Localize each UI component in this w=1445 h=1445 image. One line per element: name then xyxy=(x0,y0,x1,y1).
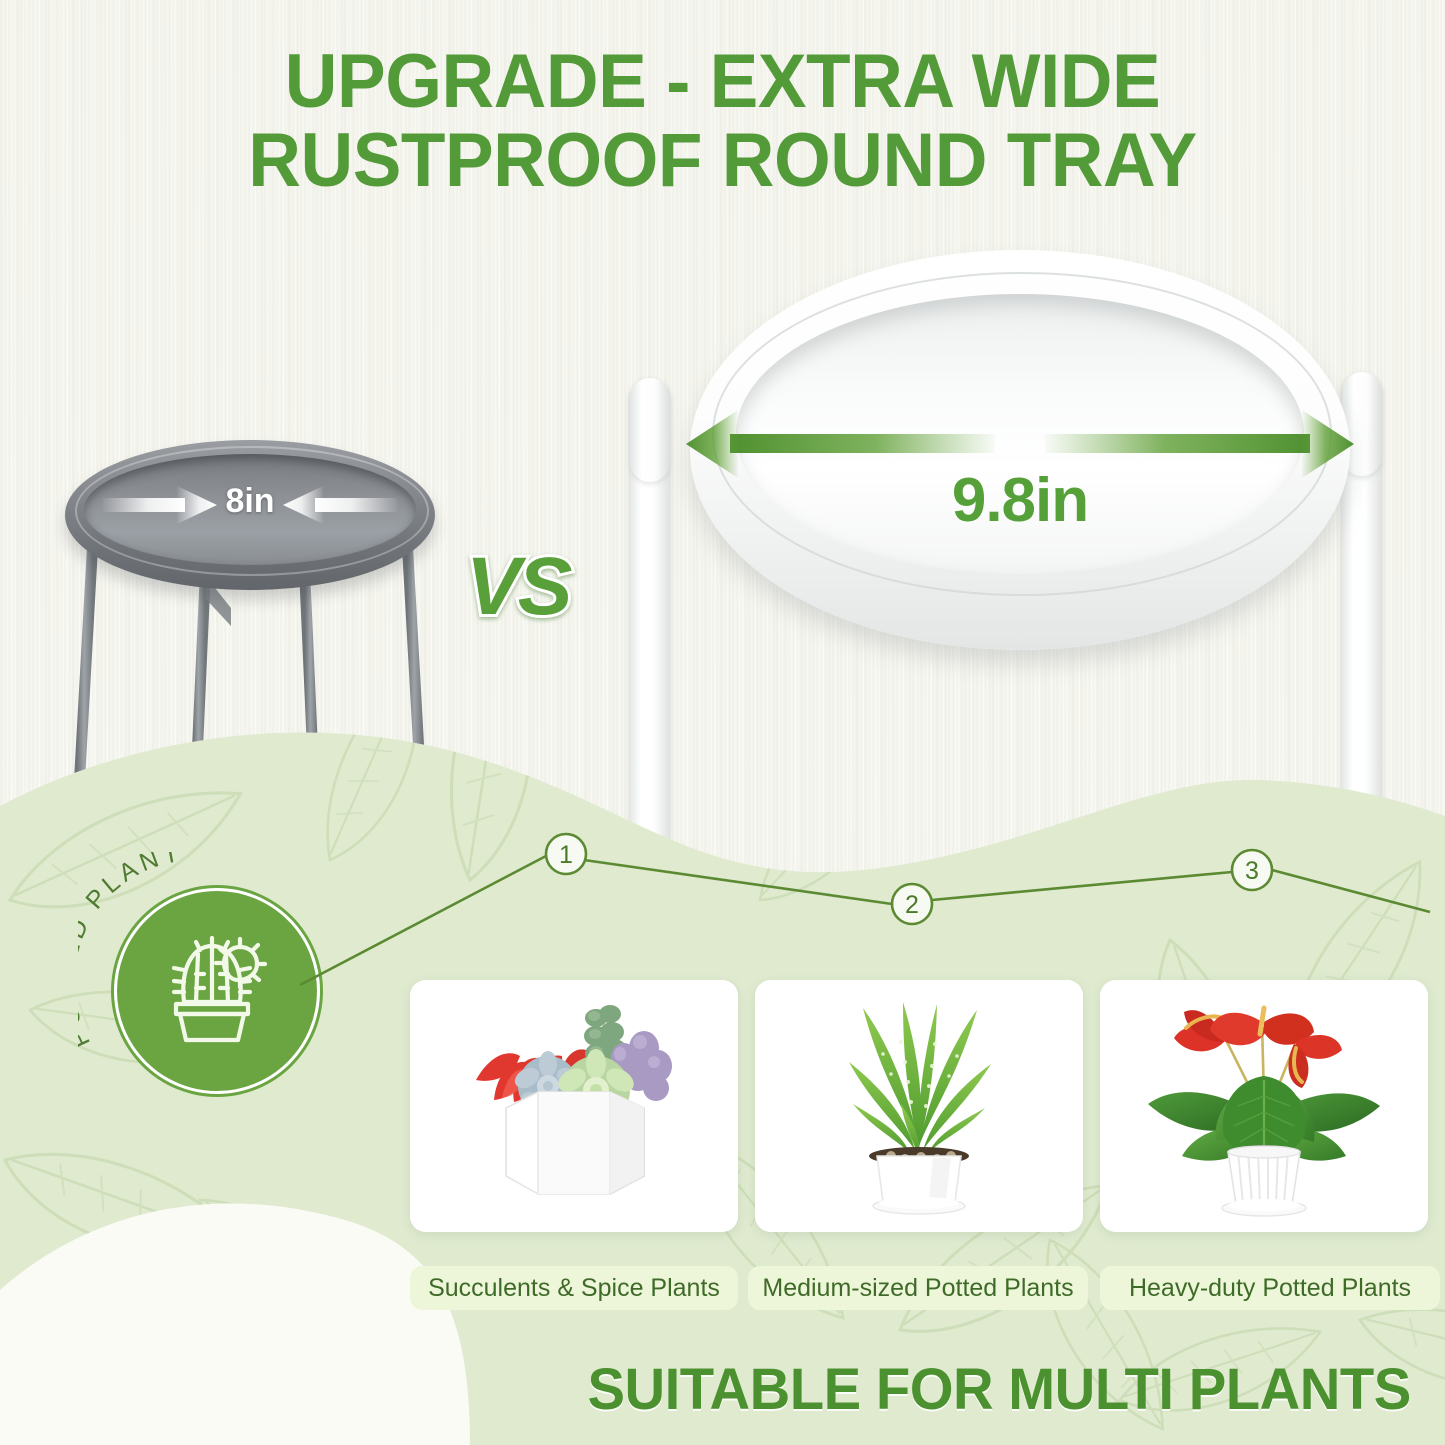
caption-pill-2: Medium-sized Potted Plants xyxy=(748,1266,1088,1310)
caption-pill-1: Succulents & Spice Plants xyxy=(410,1266,738,1310)
vs-badge: VS xyxy=(466,540,569,634)
marker-2-label: 2 xyxy=(905,891,919,919)
plant-card-succulents[interactable] xyxy=(410,980,738,1232)
mixed-succulents-image xyxy=(410,980,738,1232)
red-anthurium-image xyxy=(1100,980,1428,1232)
gray-tray-body: 8in xyxy=(65,440,435,590)
marker-1-label: 1 xyxy=(559,841,573,869)
page-title: UPGRADE - EXTRA WIDE RUSTPROOF ROUND TRA… xyxy=(0,42,1445,200)
aloe-vera-image xyxy=(755,980,1083,1232)
plant-card-aloe[interactable] xyxy=(755,980,1083,1232)
old-dimension-label: 8in xyxy=(65,482,435,521)
new-dimension-label: 9.8in xyxy=(690,465,1350,536)
title-line-1: UPGRADE - EXTRA WIDE xyxy=(29,42,1416,121)
marker-3-label: 3 xyxy=(1245,857,1259,885)
plant-card-anthurium[interactable] xyxy=(1100,980,1428,1232)
footer-headline: SUITABLE FOR MULTI PLANTS xyxy=(588,1356,1411,1423)
marker-2: 2 xyxy=(892,884,932,924)
marker-1: 1 xyxy=(546,834,586,874)
leg-cap-left xyxy=(630,378,670,482)
caption-pill-3: Heavy-duty Potted Plants xyxy=(1100,1266,1440,1310)
infographic-canvas: UPGRADE - EXTRA WIDE RUSTPROOF ROUND TRA… xyxy=(0,0,1445,1445)
title-line-2: RUSTPROOF ROUND TRAY xyxy=(29,121,1416,200)
marker-3: 3 xyxy=(1232,850,1272,890)
